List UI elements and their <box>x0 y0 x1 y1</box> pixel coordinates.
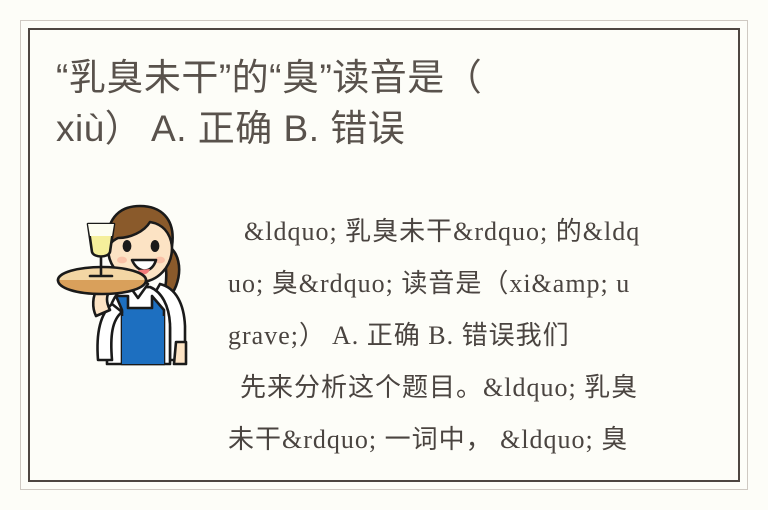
page-title: “乳臭未干”的“臭”读音是（ xiù） A. 正确 B. 错误 <box>56 52 706 154</box>
article-body-line-5: 未干&rdquo; 一词中， &ldquo; 臭 <box>228 414 668 466</box>
waitress-with-tray-icon <box>52 192 212 377</box>
apron-skirt <box>122 316 164 364</box>
cheek-left <box>117 257 127 264</box>
article-body-line-1: &ldquo; 乳臭未干&rdquo; 的&ldq <box>228 206 668 258</box>
wine-glass-highlight <box>88 224 114 236</box>
eye-right <box>151 240 160 252</box>
page-title-line-1: “乳臭未干”的“臭”读音是（ <box>56 52 706 103</box>
article-body: &ldquo; 乳臭未干&rdquo; 的&ldq uo; 臭&rdquo; 读… <box>228 206 668 486</box>
waitress-illustration <box>52 192 212 377</box>
eye-left <box>123 240 132 252</box>
article-body-line-4: 先来分析这个题目。&ldquo; 乳臭 <box>228 362 668 414</box>
content-card: “乳臭未干”的“臭”读音是（ xiù） A. 正确 B. 错误 <box>0 0 768 510</box>
page-title-line-2: xiù） A. 正确 B. 错误 <box>56 103 706 154</box>
article-body-line-3: grave;） A. 正确 B. 错误我们 <box>228 310 668 362</box>
article-body-line-2: uo; 臭&rdquo; 读音是（xi&amp; u <box>228 258 668 310</box>
hand-right <box>174 342 186 364</box>
